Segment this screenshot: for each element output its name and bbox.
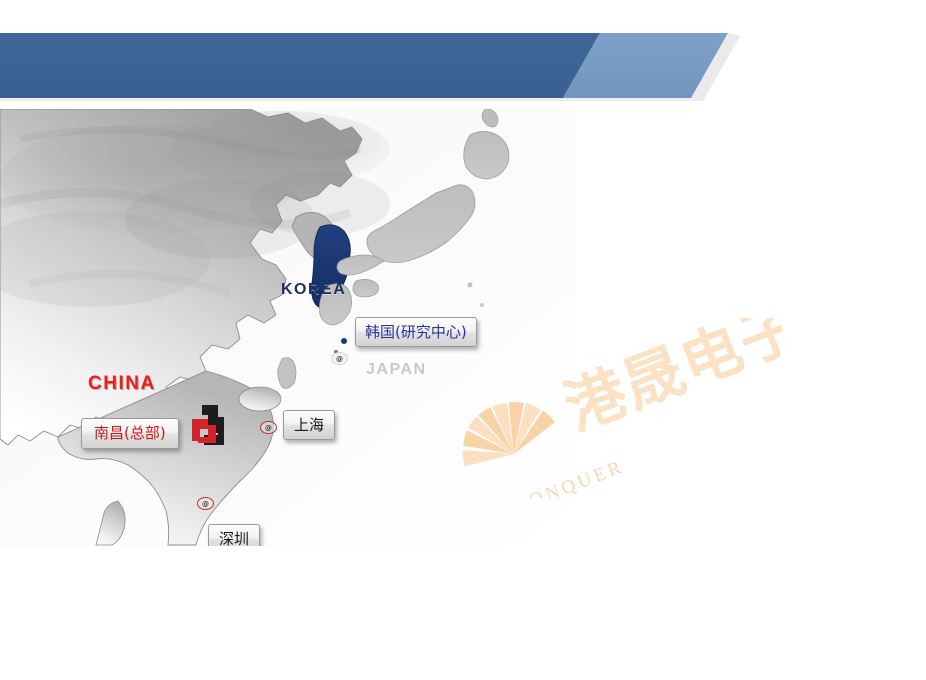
small-isle	[480, 303, 484, 307]
callout-korea-rnd-label: 韩国(研究中心)	[365, 325, 467, 340]
marker-shanghai-glyph: @	[265, 424, 272, 432]
map-region: CHINA KOREA JAPAN @ @ @ 韩国(研究中心) 南昌(总部) …	[0, 109, 576, 546]
callout-shenzhen-label: 深圳	[219, 532, 249, 547]
slide-canvas: CHINA KOREA JAPAN @ @ @ 韩国(研究中心) 南昌(总部) …	[0, 0, 926, 680]
taiwan	[278, 358, 296, 389]
header-banner	[0, 30, 926, 110]
map-landmass-svg	[0, 109, 576, 546]
small-isle	[468, 283, 473, 288]
company-logo-icon	[188, 403, 224, 447]
marker-korea-glyph: @	[336, 355, 343, 363]
shikoku	[353, 279, 379, 297]
banner-shape	[0, 30, 926, 110]
callout-shanghai[interactable]: 上海	[283, 410, 335, 440]
marker-korea-icon[interactable]: @	[331, 352, 348, 365]
hainan-island	[239, 387, 281, 411]
marker-shanghai-icon[interactable]: @	[260, 421, 277, 434]
callout-shanghai-label: 上海	[294, 418, 324, 433]
marker-shenzhen-icon[interactable]: @	[197, 497, 214, 510]
small-isle	[341, 338, 347, 344]
callout-korea-rnd[interactable]: 韩国(研究中心)	[355, 317, 477, 347]
marker-shenzhen-glyph: @	[202, 500, 209, 508]
callout-nanchang-hq-label: 南昌(总部)	[94, 426, 166, 441]
callout-nanchang-hq[interactable]: 南昌(总部)	[81, 418, 179, 449]
watermark-chinese: 港晟电子	[556, 318, 782, 444]
hokkaido	[464, 131, 509, 179]
callout-shenzhen[interactable]: 深圳	[208, 524, 260, 546]
